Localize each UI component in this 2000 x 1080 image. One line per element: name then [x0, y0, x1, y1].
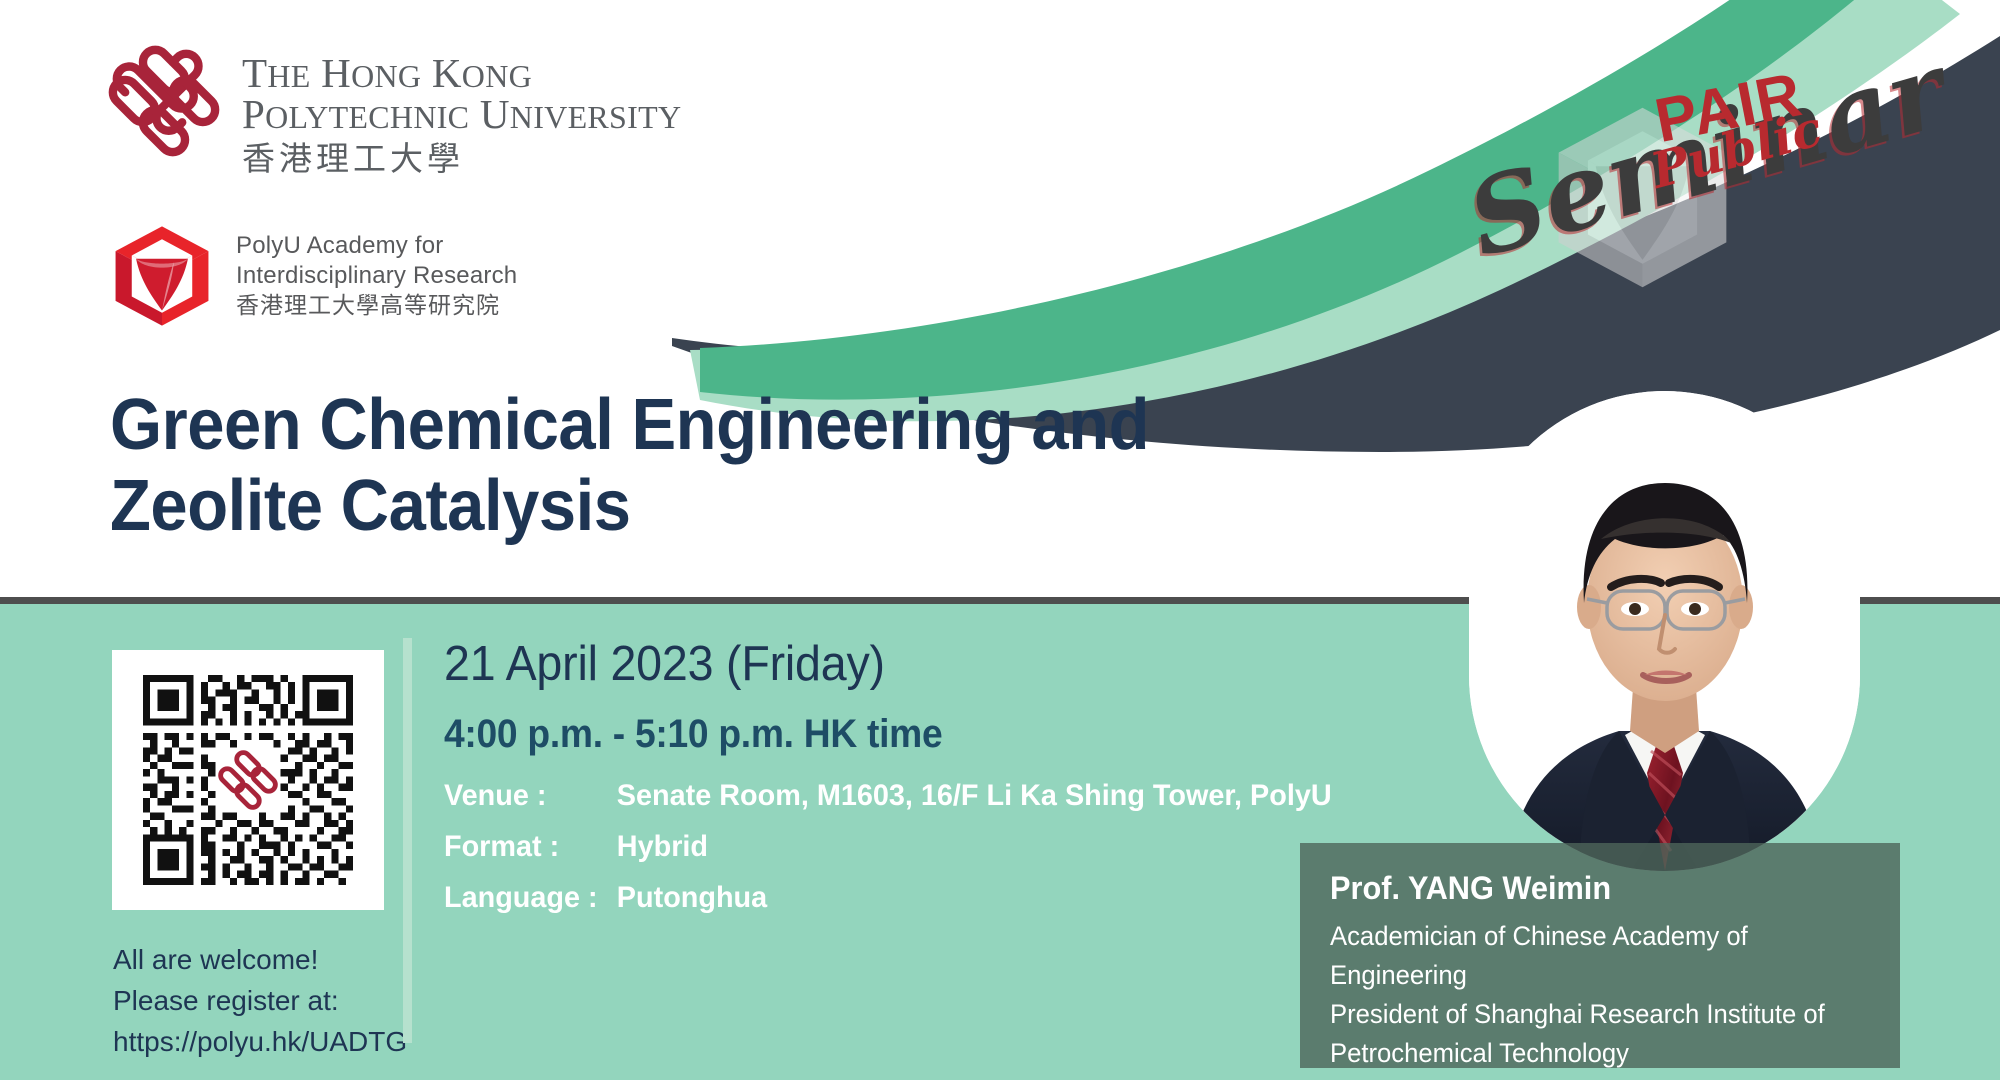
speaker-title-line3: Petrochemical Technology: [1330, 1034, 1843, 1073]
polyu-name-zh: 香港理工大學: [242, 137, 681, 182]
event-details-table: Venue : Senate Room, M1603, 16/F Li Ka S…: [444, 779, 1332, 932]
pair-name-en-line1: PolyU Academy for: [236, 231, 517, 261]
registration-prompt: Please register at:: [113, 981, 413, 1022]
format-label: Format :: [444, 830, 617, 881]
registration-url[interactable]: https://polyu.hk/UADTG: [113, 1022, 413, 1063]
page-title: Green Chemical Engineering and Zeolite C…: [110, 385, 1273, 548]
registration-info: All are welcome! Please register at: htt…: [113, 940, 413, 1063]
registration-welcome: All are welcome!: [113, 940, 413, 981]
event-time: 4:00 p.m. - 5:10 p.m. HK time: [444, 712, 942, 757]
polyu-name-en-line1: THE HONG KONG: [242, 53, 681, 94]
language-value: Putonghua: [617, 881, 1332, 932]
pair-academy-wordmark: PolyU Academy for Interdisciplinary Rese…: [236, 231, 517, 320]
column-divider: [403, 638, 412, 1043]
language-label: Language :: [444, 881, 617, 932]
polyu-wordmark: THE HONG KONG POLYTECHNIC UNIVERSITY 香港理…: [242, 45, 681, 182]
pair-cube-icon: [108, 222, 216, 330]
pair-name-en-line2: Interdisciplinary Research: [236, 261, 517, 291]
table-row: Format : Hybrid: [444, 830, 1332, 881]
polyu-logo: THE HONG KONG POLYTECHNIC UNIVERSITY 香港理…: [108, 45, 681, 182]
speaker-titles: Academician of Chinese Academy of Engine…: [1330, 917, 1843, 1073]
polyu-knot-icon: [108, 45, 220, 157]
venue-value: Senate Room, M1603, 16/F Li Ka Shing Tow…: [617, 779, 1332, 830]
venue-label: Venue :: [444, 779, 617, 830]
page-title-line1: Green Chemical Engineering and: [110, 385, 1273, 466]
speaker-photo-frame: [1469, 391, 1860, 871]
table-row: Venue : Senate Room, M1603, 16/F Li Ka S…: [444, 779, 1332, 830]
pair-academy-logo: PolyU Academy for Interdisciplinary Rese…: [108, 222, 517, 330]
speaker-title-line2: President of Shanghai Research Institute…: [1330, 995, 1843, 1034]
polyu-name-en-line2: POLYTECHNIC UNIVERSITY: [242, 94, 681, 135]
page-title-line2: Zeolite Catalysis: [110, 466, 1273, 547]
event-date: 21 April 2023 (Friday): [444, 636, 885, 692]
qr-code-card[interactable]: [112, 650, 384, 910]
speaker-info-box: Prof. YANG Weimin Academician of Chinese…: [1300, 843, 1900, 1068]
seminar-poster: THE HONG KONG POLYTECHNIC UNIVERSITY 香港理…: [0, 0, 2000, 1080]
table-row: Language : Putonghua: [444, 881, 1332, 932]
speaker-portrait-photo: [1469, 391, 1860, 871]
qr-polyu-logo-icon: [218, 750, 278, 810]
speaker-title-line1: Academician of Chinese Academy of Engine…: [1330, 917, 1843, 995]
format-value: Hybrid: [617, 830, 1332, 881]
pair-public-seminar-badge: Seminar PAIR Public: [1505, 70, 1905, 300]
speaker-name: Prof. YANG Weimin: [1330, 869, 1848, 907]
pair-name-zh: 香港理工大學高等研究院: [236, 292, 517, 321]
